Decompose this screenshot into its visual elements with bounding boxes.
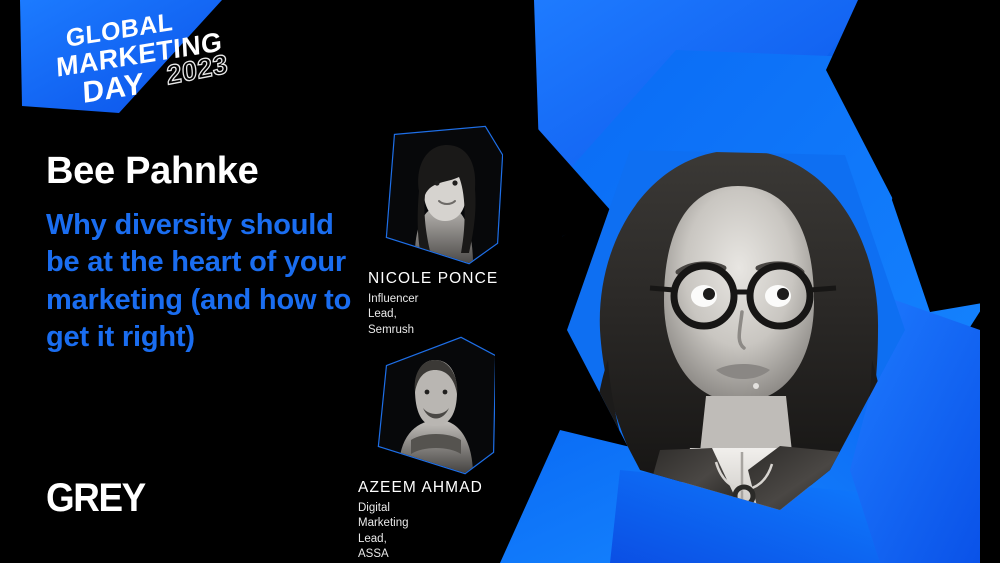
guest-role: Digital Marketing Lead, ASSA ABLOY <box>358 501 409 563</box>
guest-role: Influencer Lead, Semrush <box>368 292 419 338</box>
guest-photo-frame <box>365 336 495 476</box>
right-black-margin <box>980 0 1000 563</box>
guest-name: NICOLE PONCE <box>368 270 498 288</box>
slide-canvas: GLOBAL MARKETING DAY 2023 Bee Pahnke Why… <box>0 0 1000 563</box>
guest-name: AZEEM AHMAD <box>358 479 483 497</box>
talk-title: Why diversity should be at the heart of … <box>46 207 356 357</box>
guest-photo-frame <box>373 125 503 265</box>
grey-brand-logo: GREY <box>46 476 145 521</box>
host-name: Bee Pahnke <box>46 150 258 193</box>
